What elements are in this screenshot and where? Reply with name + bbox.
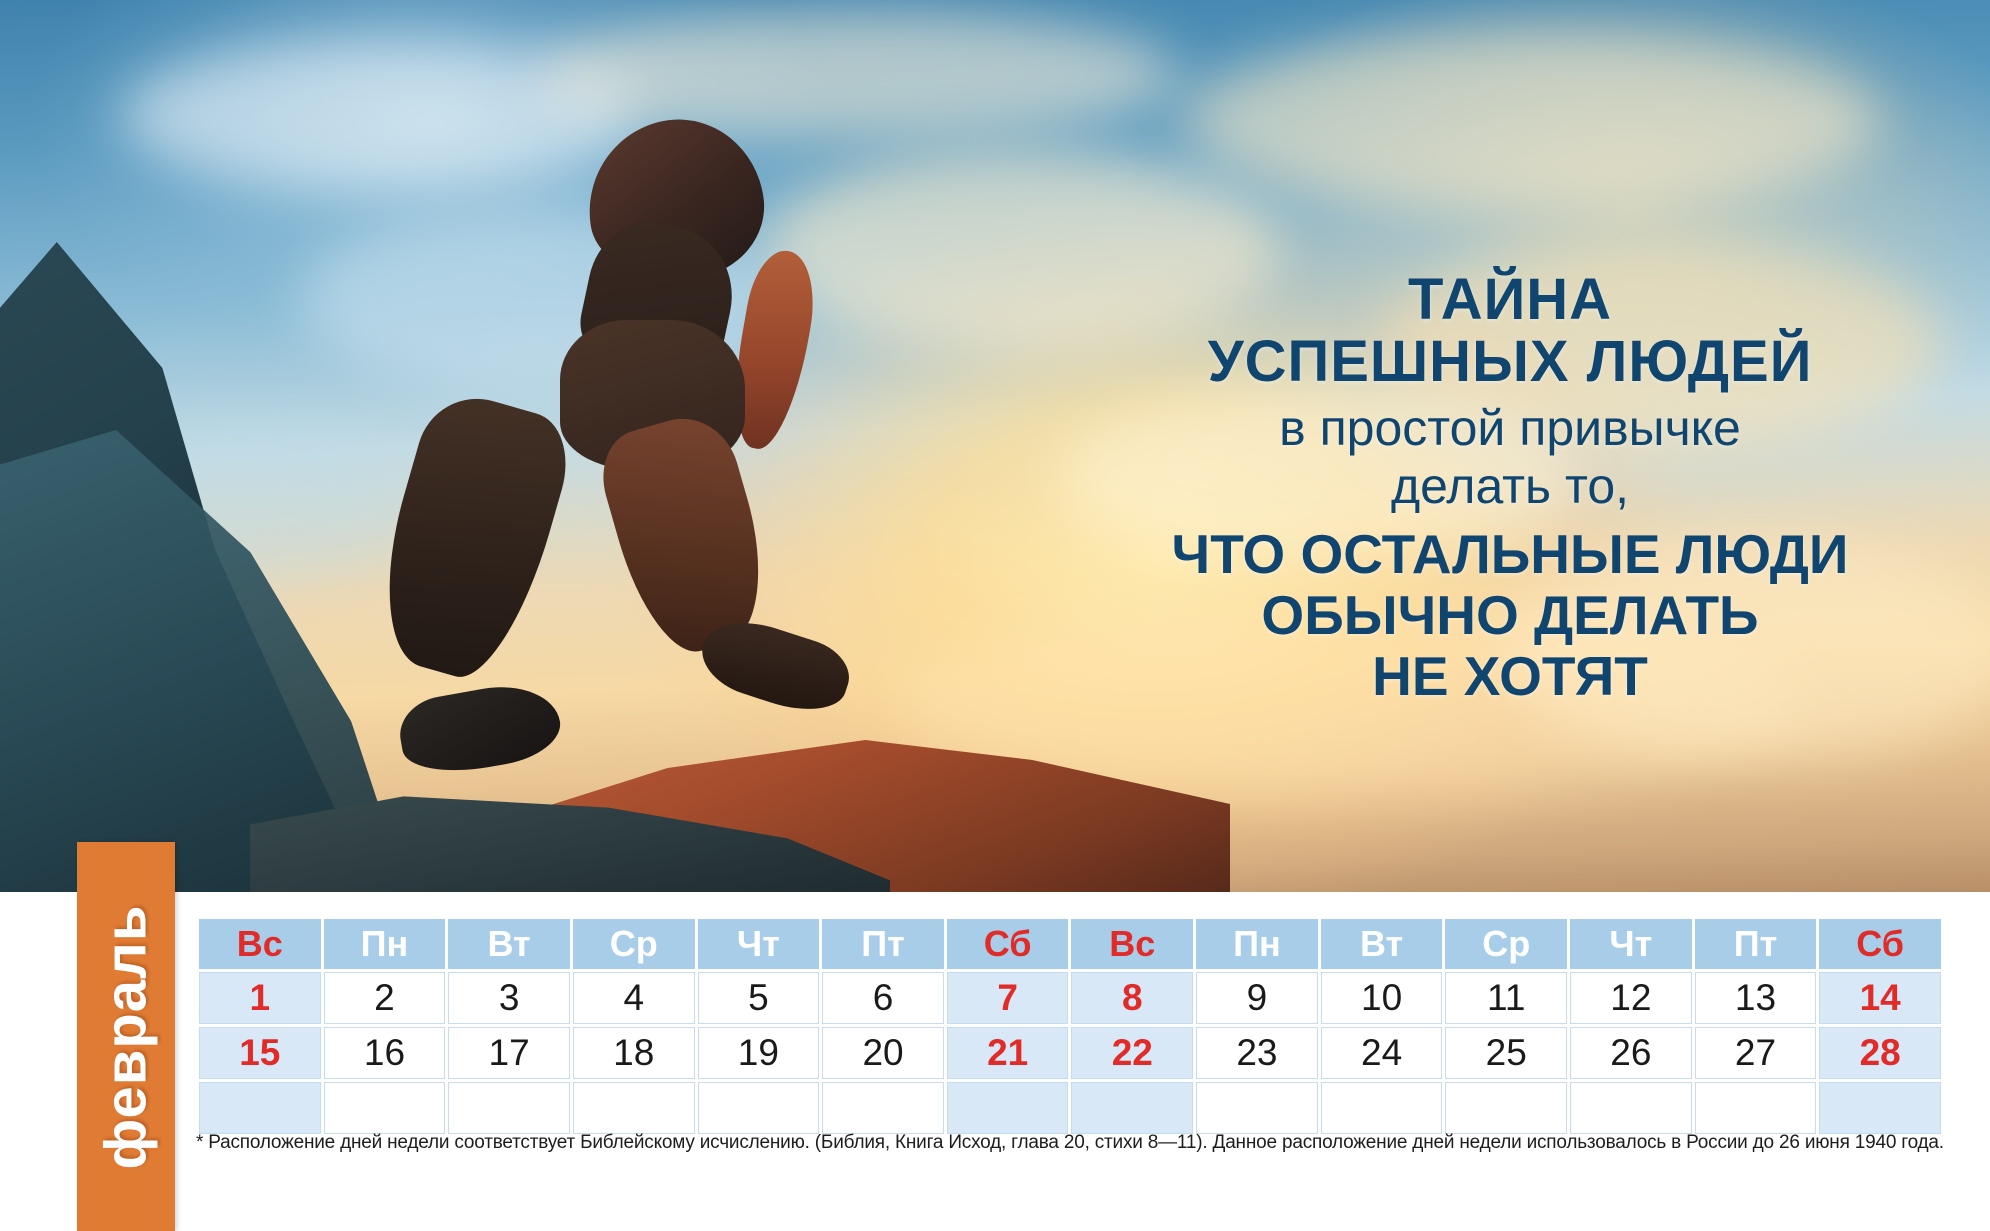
day-cell[interactable]: 9 <box>1196 972 1318 1024</box>
day-cell-empty <box>1321 1082 1443 1134</box>
day-cell[interactable]: 20 <box>822 1027 944 1079</box>
day-cell[interactable]: 13 <box>1695 972 1817 1024</box>
day-cell-empty <box>822 1082 944 1134</box>
quote-line-6: ОБЫЧНО ДЕЛАТЬ <box>1110 587 1910 644</box>
weekday-header-8: Пн <box>1196 919 1318 969</box>
day-cell[interactable]: 24 <box>1321 1027 1443 1079</box>
weekday-header-3: Ср <box>573 919 695 969</box>
weekday-header-6: Сб <box>947 919 1069 969</box>
calendar-body: ВсПнВтСрЧтПтСбВсПнВтСрЧтПтСб123456789101… <box>199 919 1941 1134</box>
day-cell-empty <box>1071 1082 1193 1134</box>
quote-line-4: делать то, <box>1110 461 1910 513</box>
day-cell[interactable]: 12 <box>1570 972 1692 1024</box>
day-cell-empty <box>573 1082 695 1134</box>
day-cell[interactable]: 10 <box>1321 972 1443 1024</box>
quote-line-1: ТАЙНА <box>1110 270 1910 330</box>
weekday-header-5: Пт <box>822 919 944 969</box>
day-cell[interactable]: 3 <box>448 972 570 1024</box>
day-cell-empty <box>448 1082 570 1134</box>
day-cell[interactable]: 25 <box>1445 1027 1567 1079</box>
day-cell[interactable]: 15 <box>199 1027 321 1079</box>
weekday-header-9: Вт <box>1321 919 1443 969</box>
quote-line-7: НЕ ХОТЯТ <box>1110 648 1910 705</box>
day-cell[interactable]: 6 <box>822 972 944 1024</box>
day-cell[interactable]: 5 <box>698 972 820 1024</box>
day-cell[interactable]: 26 <box>1570 1027 1692 1079</box>
day-cell[interactable]: 18 <box>573 1027 695 1079</box>
day-cell[interactable]: 22 <box>1071 1027 1193 1079</box>
day-cell-empty <box>1819 1082 1941 1134</box>
day-cell[interactable]: 19 <box>698 1027 820 1079</box>
day-cell[interactable]: 8 <box>1071 972 1193 1024</box>
day-cell[interactable]: 11 <box>1445 972 1567 1024</box>
weekday-header-2: Вт <box>448 919 570 969</box>
day-cell[interactable]: 27 <box>1695 1027 1817 1079</box>
month-name-label: февраль <box>93 904 160 1169</box>
motivational-quote: ТАЙНА УСПЕШНЫХ ЛЮДЕЙ в простой привычке … <box>1110 270 1910 704</box>
day-cell-empty <box>1570 1082 1692 1134</box>
day-cell[interactable]: 17 <box>448 1027 570 1079</box>
day-cell[interactable]: 14 <box>1819 972 1941 1024</box>
day-cell[interactable]: 7 <box>947 972 1069 1024</box>
hero-photo: ТАЙНА УСПЕШНЫХ ЛЮДЕЙ в простой привычке … <box>0 0 1990 892</box>
calendar-table: ВсПнВтСрЧтПтСбВсПнВтСрЧтПтСб123456789101… <box>196 916 1944 1137</box>
quote-line-3: в простой привычке <box>1110 403 1910 455</box>
month-tab: февраль <box>77 842 175 1231</box>
quote-line-5: ЧТО ОСТАЛЬНЫЕ ЛЮДИ <box>1110 526 1910 583</box>
weekday-header-10: Ср <box>1445 919 1567 969</box>
day-cell-empty <box>698 1082 820 1134</box>
day-cell-empty <box>947 1082 1069 1134</box>
calendar-week-row: 1516171819202122232425262728 <box>199 1027 1941 1079</box>
day-cell-empty <box>324 1082 446 1134</box>
weekday-header-11: Чт <box>1570 919 1692 969</box>
day-cell[interactable]: 28 <box>1819 1027 1941 1079</box>
day-cell[interactable]: 16 <box>324 1027 446 1079</box>
quote-line-2: УСПЕШНЫХ ЛЮДЕЙ <box>1110 332 1910 392</box>
calendar-header-row: ВсПнВтСрЧтПтСбВсПнВтСрЧтПтСб <box>199 919 1941 969</box>
weekday-header-1: Пн <box>324 919 446 969</box>
day-cell-empty <box>199 1082 321 1134</box>
weekday-header-0: Вс <box>199 919 321 969</box>
weekday-header-13: Сб <box>1819 919 1941 969</box>
calendar-week-row <box>199 1082 1941 1134</box>
day-cell-empty <box>1196 1082 1318 1134</box>
day-cell-empty <box>1445 1082 1567 1134</box>
weekday-header-4: Чт <box>698 919 820 969</box>
calendar-footnote: * Расположение дней недели соответствует… <box>196 1132 1956 1154</box>
day-cell[interactable]: 21 <box>947 1027 1069 1079</box>
cloud <box>540 10 1180 140</box>
day-cell[interactable]: 2 <box>324 972 446 1024</box>
day-cell[interactable]: 1 <box>199 972 321 1024</box>
day-cell-empty <box>1695 1082 1817 1134</box>
cloud <box>1180 30 1880 210</box>
day-cell[interactable]: 4 <box>573 972 695 1024</box>
weekday-header-12: Пт <box>1695 919 1817 969</box>
calendar-week-row: 1234567891011121314 <box>199 972 1941 1024</box>
day-cell[interactable]: 23 <box>1196 1027 1318 1079</box>
weekday-header-7: Вс <box>1071 919 1193 969</box>
